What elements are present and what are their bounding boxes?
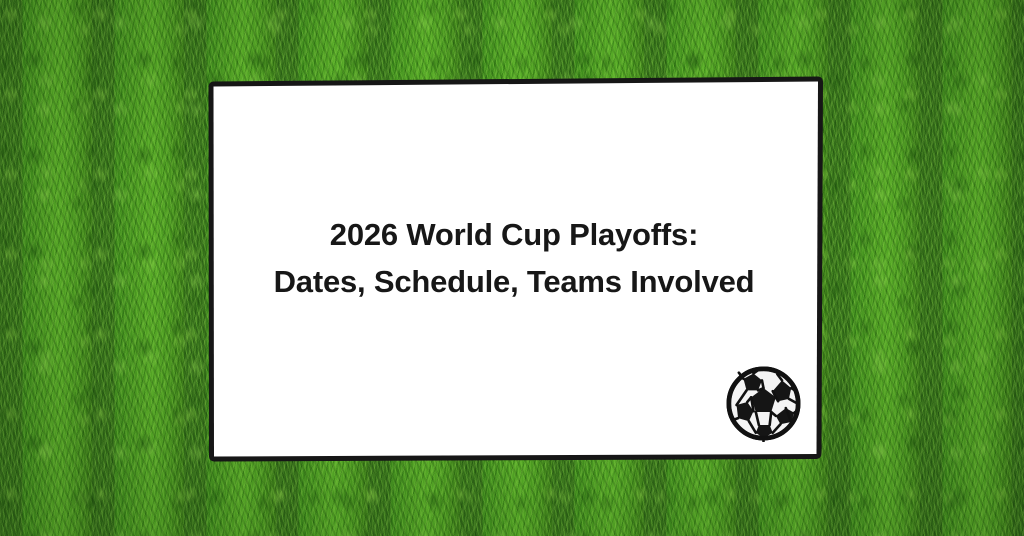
title-line-2: Dates, Schedule, Teams Involved [229, 258, 799, 305]
card-content-area: 2026 World Cup Playoffs: Dates, Schedule… [219, 90, 809, 448]
soccer-ball-graphic [725, 365, 802, 442]
page-title: 2026 World Cup Playoffs: Dates, Schedule… [219, 211, 809, 305]
title-line-1: 2026 World Cup Playoffs: [229, 211, 799, 258]
poster-canvas: 2026 World Cup Playoffs: Dates, Schedule… [0, 0, 1024, 536]
soccer-ball-icon [725, 365, 802, 442]
